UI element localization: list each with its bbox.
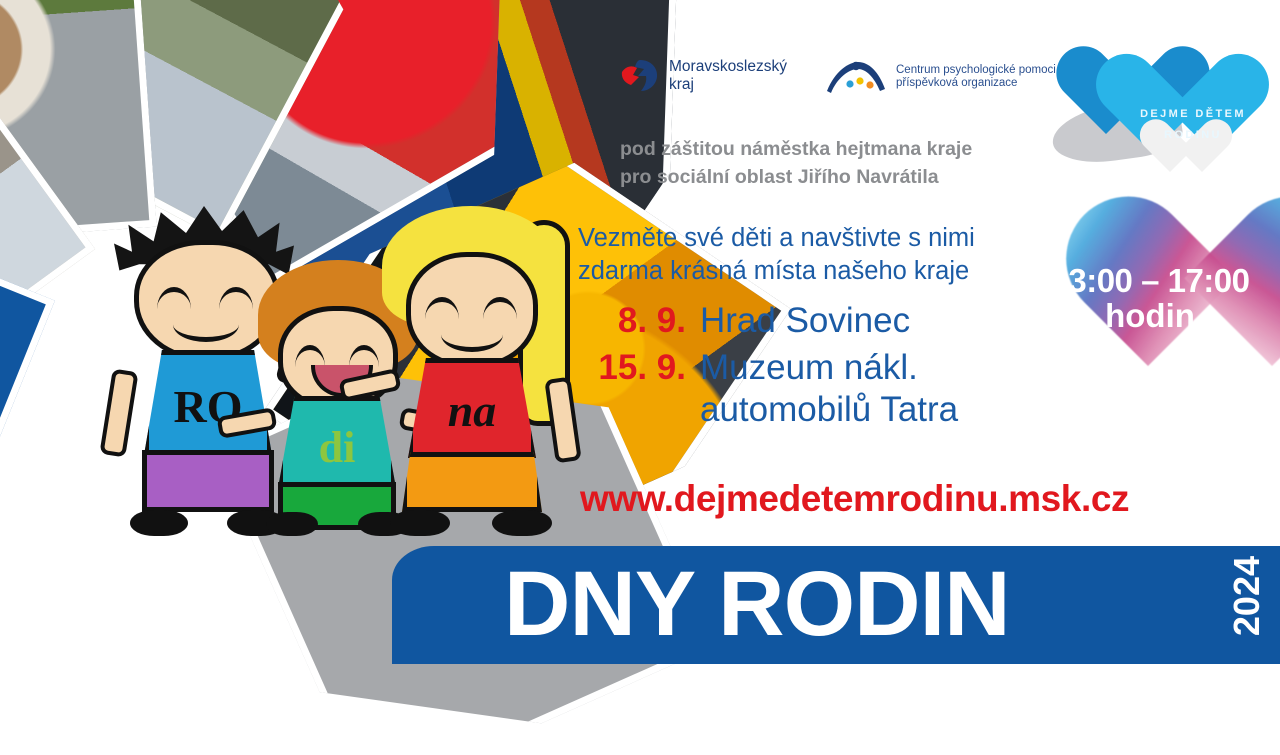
eye-left-icon	[295, 345, 325, 367]
smile-icon	[173, 307, 239, 342]
msk-logo-icon	[620, 58, 660, 94]
cpp-logo-line2: příspěvková organizace	[896, 77, 1059, 90]
face	[278, 306, 398, 410]
poster-canvas: RO di	[0, 0, 1280, 720]
event-venue-line2: automobilů Tatra	[700, 389, 958, 432]
shoe-left	[266, 512, 318, 536]
time-badge-hours: 13:00 – 17:00	[1030, 264, 1270, 299]
event-item: 8. 9. Hrad Sovinec	[578, 300, 1058, 343]
bottom-banner: DNY RODIN 2024	[392, 546, 1280, 664]
patronage-text: pod záštitou náměstka hejtmana kraje pro…	[620, 136, 1040, 191]
banner-title: DNY RODIN	[504, 558, 1010, 650]
shirt-letter: na	[408, 384, 536, 437]
children-illustration: RO di	[120, 185, 560, 530]
face	[406, 252, 538, 368]
eye-right-icon	[483, 297, 517, 319]
time-badge-unit: hodin	[1030, 299, 1270, 334]
cpp-logo-icon	[825, 58, 887, 96]
cpp-logo-text: Centrum psychologické pomoci, příspěvkov…	[896, 64, 1059, 91]
shoe-left	[130, 510, 188, 536]
event-date: 15. 9.	[578, 347, 686, 390]
lead-line1: Vezměte své děti a navštivte s nimi	[578, 222, 1018, 255]
shorts	[142, 450, 274, 512]
eye-left-icon	[425, 297, 459, 319]
shoe-left	[390, 510, 450, 536]
msk-logo-text: Moravskoslezský kraj	[669, 58, 787, 94]
dejme-detem-rodinu-logo: DEJME DĚTEM RODINU	[1052, 42, 1274, 202]
website-url[interactable]: www.dejmedetemrodinu.msk.cz	[580, 478, 1129, 520]
heart-logo-line1: DEJME DĚTEM	[1118, 104, 1268, 125]
event-venue-line1: Hrad Sovinec	[700, 300, 910, 343]
event-list: 8. 9. Hrad Sovinec 15. 9. Muzeum nákl. a…	[578, 300, 1058, 436]
patronage-line1: pod záštitou náměstka hejtmana kraje	[620, 136, 1040, 164]
partner-logos: Moravskoslezský kraj Centrum psychologic…	[620, 58, 1059, 96]
time-badge: 13:00 – 17:00 hodin	[1030, 212, 1270, 390]
event-venue: Hrad Sovinec	[700, 300, 910, 343]
patronage-line2: pro sociální oblast Jiřího Navrátila	[620, 164, 1040, 192]
eye-left-icon	[157, 287, 191, 309]
shirt: na	[408, 358, 536, 458]
lead-text: Vezměte své děti a navštivte s nimi zdar…	[578, 222, 1018, 288]
cpp-logo-line1: Centrum psychologické pomoci,	[896, 64, 1059, 77]
heart-logo-line2: RODINU	[1118, 125, 1268, 146]
smile-icon	[441, 317, 503, 352]
shirt: di	[278, 396, 396, 488]
heart-logo-text: DEJME DĚTEM RODINU	[1118, 104, 1268, 146]
eye-right-icon	[219, 287, 253, 309]
lead-line2: zdarma krásná místa našeho kraje	[578, 255, 1018, 288]
msk-logo[interactable]: Moravskoslezský kraj	[620, 58, 787, 94]
cpp-logo[interactable]: Centrum psychologické pomoci, příspěvkov…	[825, 58, 1059, 96]
shirt-letter: di	[278, 422, 396, 473]
shoe-right	[492, 510, 552, 536]
msk-logo-line1: Moravskoslezský	[669, 58, 787, 76]
event-item: 15. 9. Muzeum nákl. automobilů Tatra	[578, 347, 1058, 432]
event-venue: Muzeum nákl. automobilů Tatra	[700, 347, 958, 432]
child-girl: na	[382, 212, 560, 530]
msk-logo-line2: kraj	[669, 76, 787, 94]
banner-year: 2024	[1226, 556, 1268, 636]
event-venue-line1: Muzeum nákl.	[700, 347, 958, 390]
event-date: 8. 9.	[578, 300, 686, 343]
shirt: RO	[144, 350, 272, 455]
time-badge-text: 13:00 – 17:00 hodin	[1030, 264, 1270, 334]
skirt	[402, 452, 542, 512]
eye-right-icon	[349, 345, 379, 367]
